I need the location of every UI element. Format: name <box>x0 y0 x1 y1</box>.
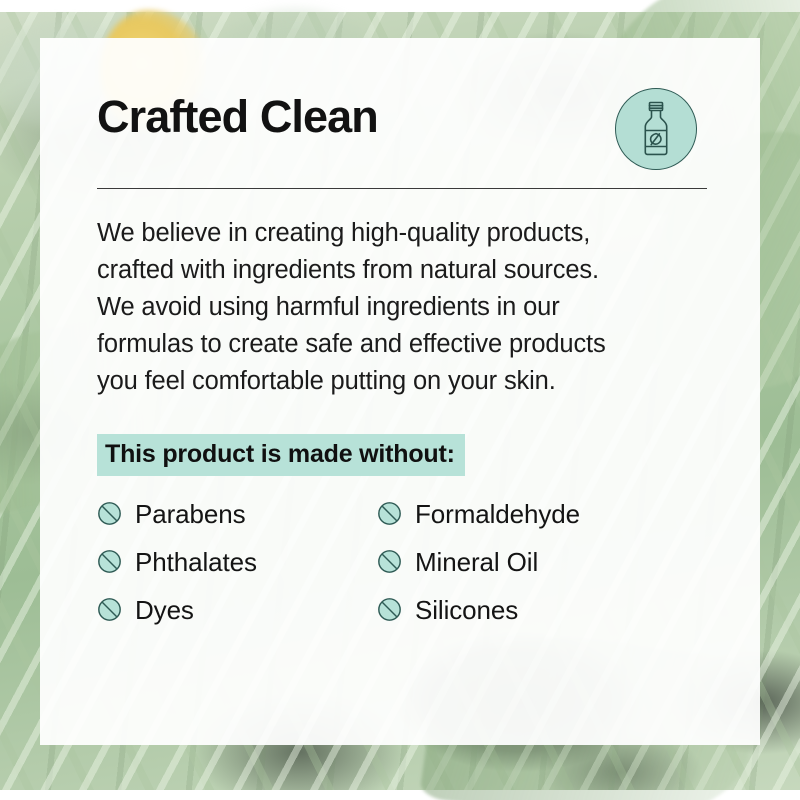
list-item: Silicones <box>377 586 712 634</box>
list-item-label: Formaldehyde <box>415 501 580 527</box>
list-item-label: Parabens <box>135 501 246 527</box>
content-card: Crafted Clean <box>40 38 760 745</box>
prohibited-icon <box>377 597 402 622</box>
list-item-label: Silicones <box>415 597 518 623</box>
list-item: Formaldehyde <box>377 490 712 538</box>
subheading-highlight: This product is made without: <box>97 434 465 476</box>
body-line: you feel comfortable putting on your ski… <box>97 363 712 400</box>
body-line: We believe in creating high-quality prod… <box>97 215 712 252</box>
card-header: Crafted Clean <box>97 88 712 180</box>
prohibited-icon <box>377 549 402 574</box>
list-item: Dyes <box>97 586 377 634</box>
body-line: We avoid using harmful ingredients in ou… <box>97 289 712 326</box>
list-item-label: Phthalates <box>135 549 257 575</box>
bottle-leaf-icon <box>615 88 697 170</box>
subheading-wrapper: This product is made without: <box>97 434 712 476</box>
prohibited-icon <box>97 597 122 622</box>
body-line: formulas to create safe and effective pr… <box>97 326 712 363</box>
list-item-label: Dyes <box>135 597 194 623</box>
excluded-ingredients-list: Parabens Formaldehyde Phthalates <box>97 490 712 634</box>
page-title: Crafted Clean <box>97 94 378 139</box>
body-paragraph: We believe in creating high-quality prod… <box>97 215 712 400</box>
prohibited-icon <box>377 501 402 526</box>
list-item-label: Mineral Oil <box>415 549 538 575</box>
header-divider <box>97 188 707 189</box>
card-inner: Crafted Clean <box>97 88 712 634</box>
prohibited-icon <box>97 549 122 574</box>
prohibited-icon <box>97 501 122 526</box>
list-item: Mineral Oil <box>377 538 712 586</box>
list-item: Phthalates <box>97 538 377 586</box>
body-line: crafted with ingredients from natural so… <box>97 252 712 289</box>
list-item: Parabens <box>97 490 377 538</box>
